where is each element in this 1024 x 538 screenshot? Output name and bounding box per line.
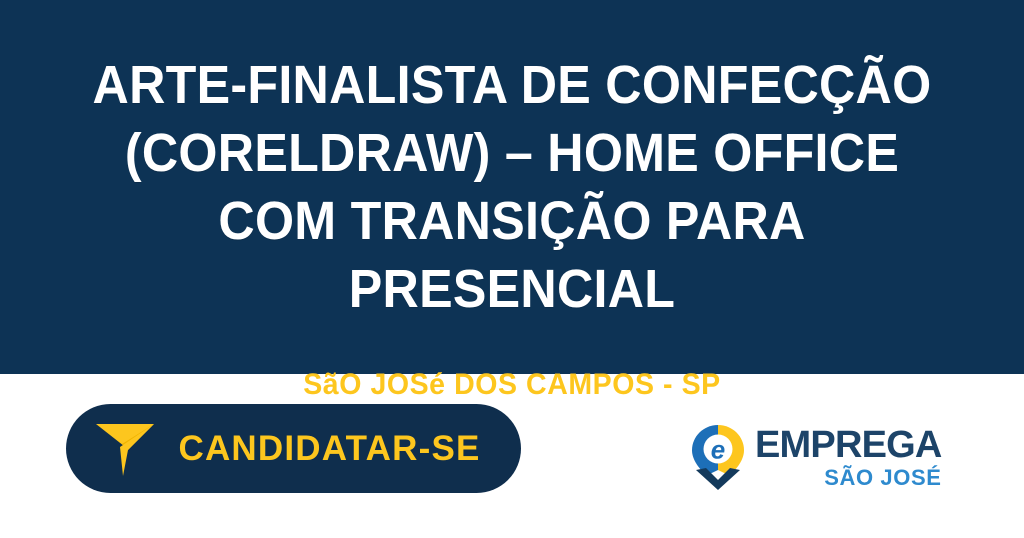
- job-posting-card: ARTE-FINALISTA DE CONFECÇÃO (CORELDRAW) …: [0, 0, 1024, 538]
- svg-text:e: e: [711, 435, 725, 465]
- page-title: ARTE-FINALISTA DE CONFECÇÃO (CORELDRAW) …: [36, 51, 988, 323]
- apply-button[interactable]: CANDIDATAR-SE: [66, 404, 521, 493]
- brand-wordmark: EMPREGA SÃO JOSÉ: [755, 424, 942, 490]
- apply-button-label: CANDIDATAR-SE: [178, 431, 480, 466]
- send-paper-plane-icon: [94, 420, 156, 478]
- brand-name: EMPREGA: [755, 426, 942, 464]
- job-banner: ARTE-FINALISTA DE CONFECÇÃO (CORELDRAW) …: [0, 0, 1024, 374]
- brand-subtitle: SÃO JOSÉ: [824, 466, 941, 490]
- map-pin-e-icon: e: [690, 424, 746, 490]
- brand-logo: e EMPREGA SÃO JOSÉ: [690, 420, 922, 494]
- job-location: SãO JOSé DOS CAMPOS - SP: [26, 368, 999, 402]
